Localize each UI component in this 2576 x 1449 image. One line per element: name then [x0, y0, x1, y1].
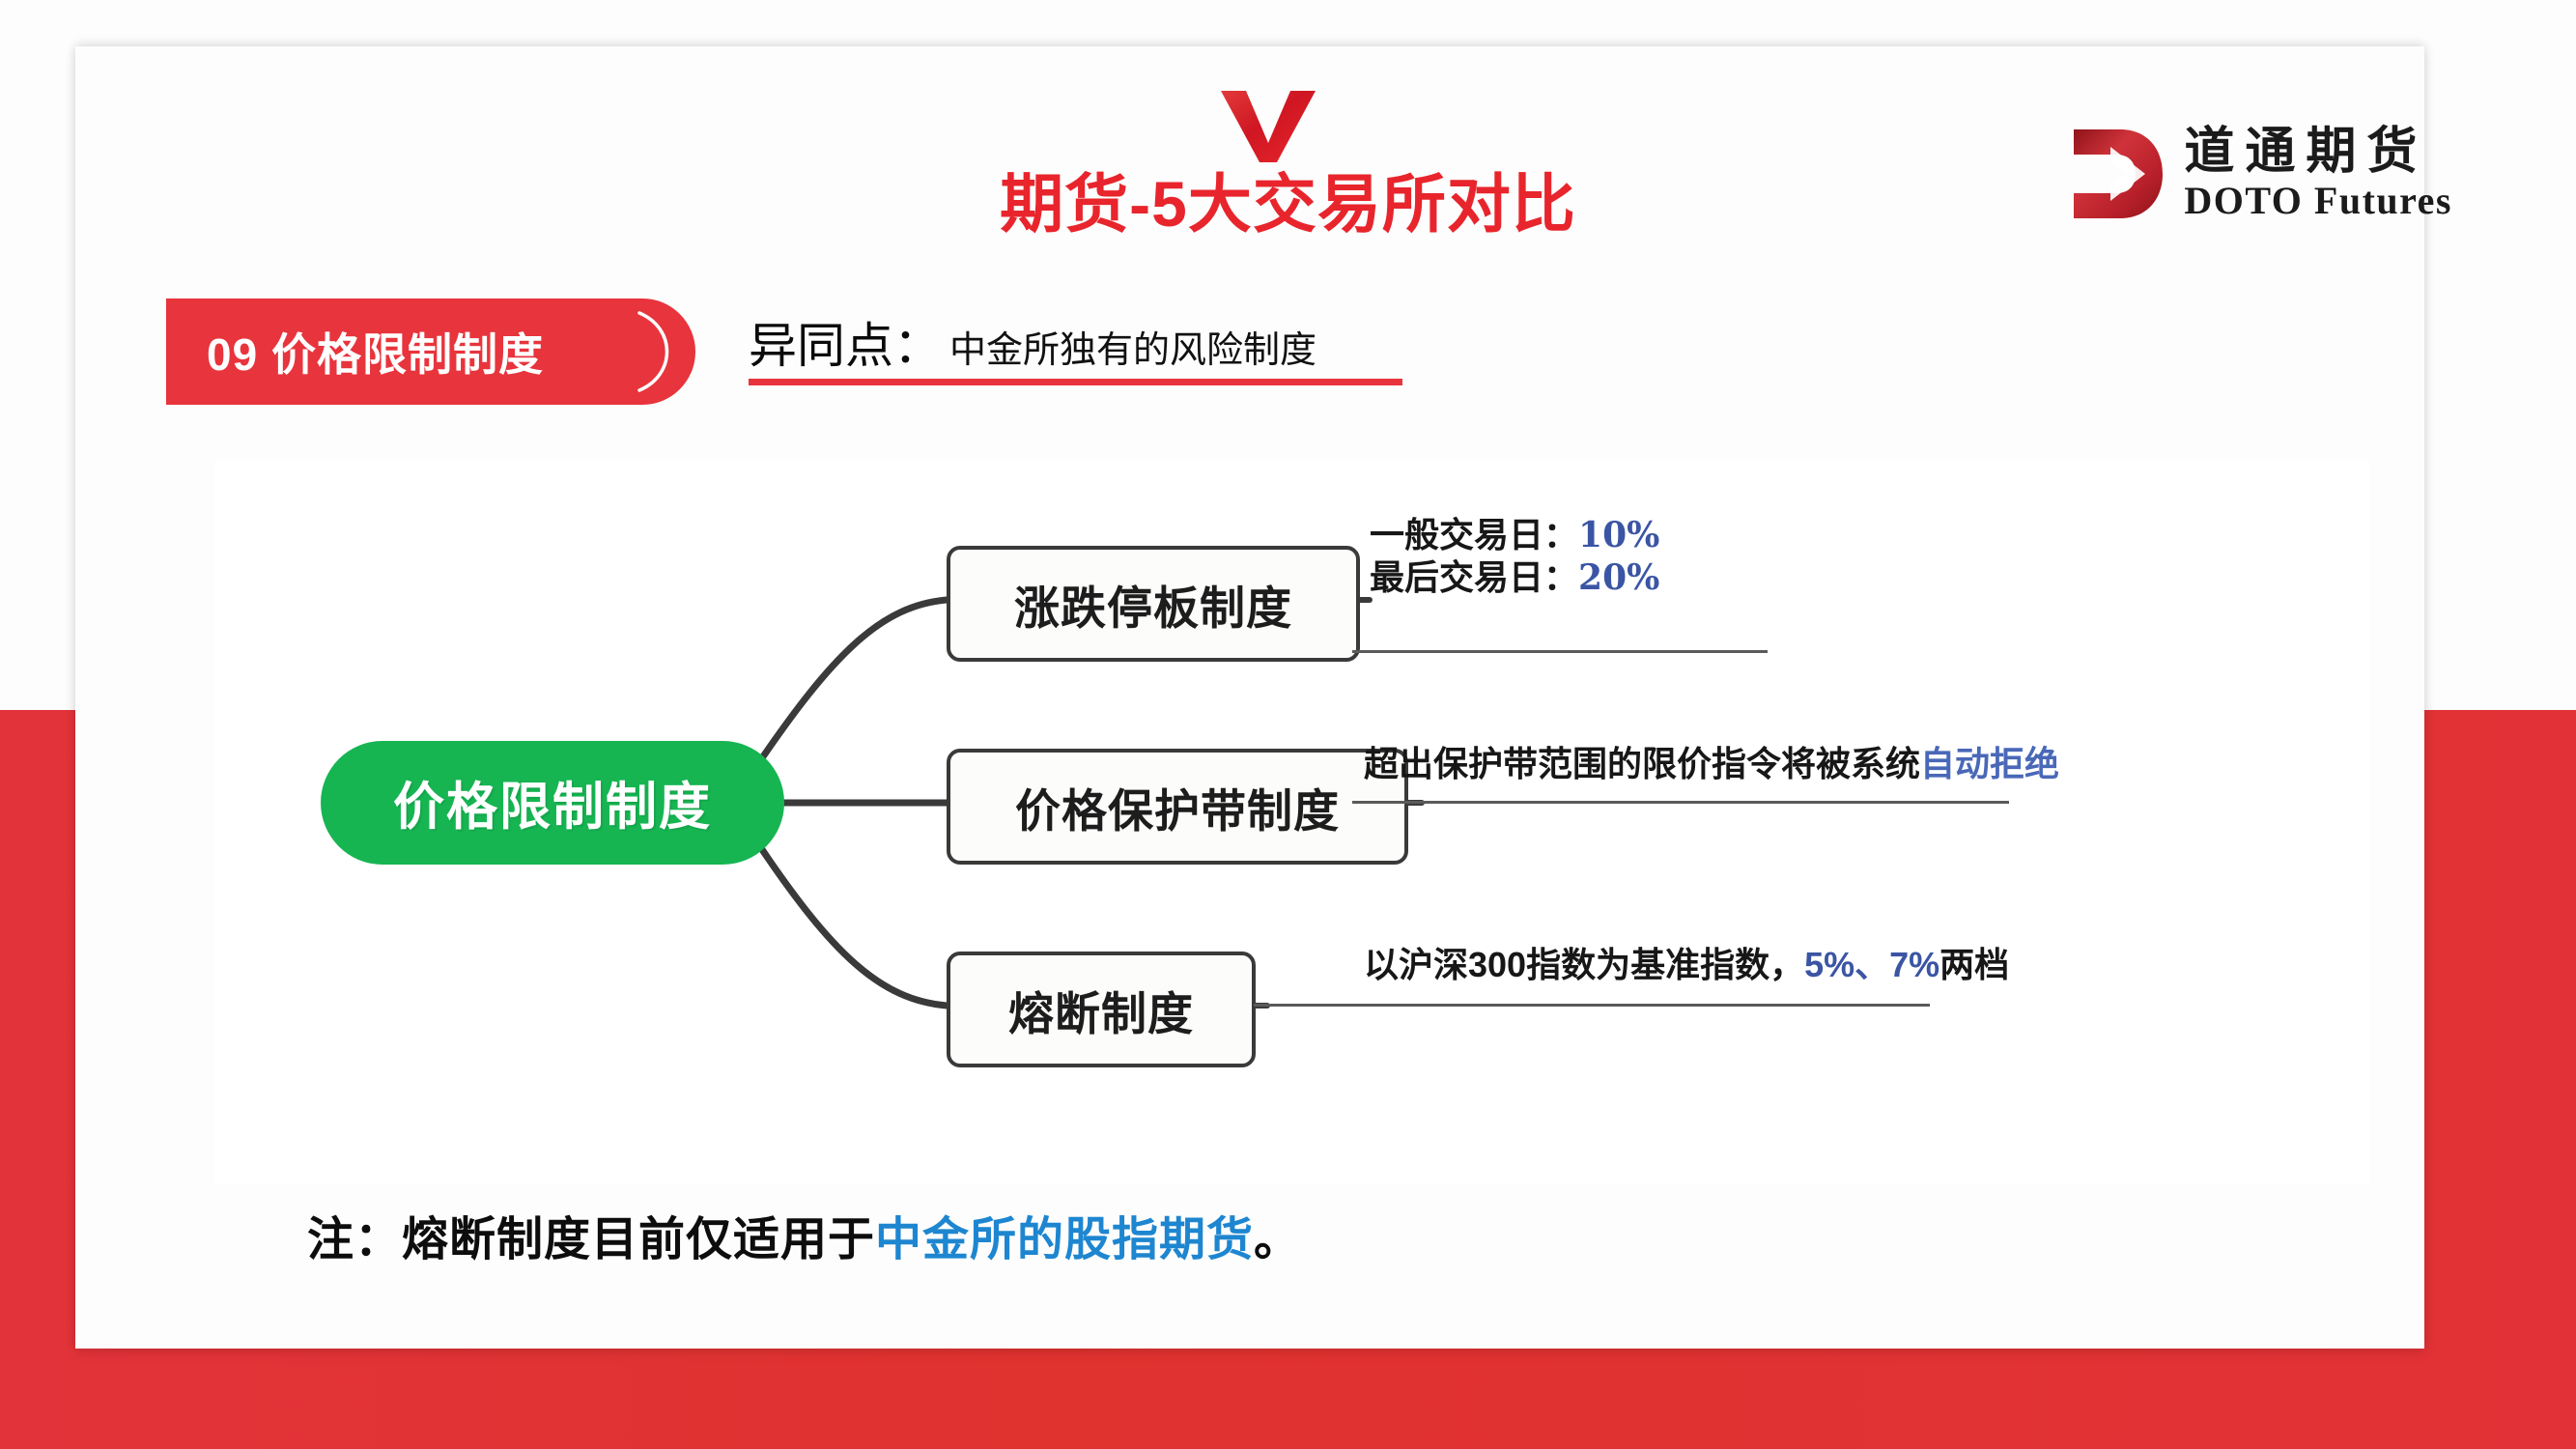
- subtitle-rest: 中金所独有的风险制度: [949, 320, 1316, 373]
- mindmap-core-label: 价格限制制度: [393, 766, 712, 839]
- brand-name-en: DOTO Futures: [2184, 182, 2452, 220]
- chevron-down-icon: [1217, 89, 1319, 164]
- annotation-suffix: 两档: [1939, 945, 2009, 984]
- annotation-rule-2: [1254, 1004, 1930, 1007]
- subtitle-lead: 异同点：: [749, 307, 942, 377]
- annotation-value: 20%: [1578, 557, 1659, 598]
- footer-note-suffix: 。: [1254, 1214, 1301, 1265]
- doto-arrow-logo-icon: [2066, 124, 2166, 224]
- mindmap-branch-label-0: 涨跌停板制度: [1014, 571, 1292, 638]
- annotation-text: 以沪深300指数为基准指数，: [1364, 945, 1804, 984]
- brand-name-cn: 道通期货: [2184, 128, 2452, 178]
- section-subtitle: 异同点： 中金所独有的风险制度: [749, 307, 1316, 377]
- mindmap-branch-label-2: 熔断制度: [1008, 977, 1194, 1043]
- footer-note: 注：熔断制度目前仅适用于中金所的股指期货。: [307, 1201, 1301, 1268]
- footer-note-prefix: 注：熔断制度目前仅适用于: [307, 1214, 875, 1265]
- mindmap-annotation-1: 超出保护带范围的限价指令将被系统自动拒绝: [1364, 743, 2059, 785]
- mindmap-branch-label-1: 价格保护带制度: [1015, 774, 1340, 840]
- annotation-value: 10%: [1578, 515, 1659, 555]
- annotation-value: 5%、7%: [1804, 945, 1939, 984]
- mindmap-annotation-0: 一般交易日：10% 最后交易日：20%: [1370, 515, 1659, 600]
- annotation-rule-0: [1352, 650, 1768, 653]
- mindmap-branch-box-1[interactable]: 价格保护带制度: [947, 749, 1408, 865]
- mindmap-panel: 价格限制制度 涨跌停板制度 一般交易日：10% 最后交易日：20% 价格保护带制…: [214, 461, 2369, 1183]
- annotation-text: 一般交易日：: [1370, 515, 1578, 555]
- footer-note-highlight: 中金所的股指期货: [875, 1214, 1254, 1265]
- annotation-line: 最后交易日：20%: [1370, 557, 1659, 600]
- annotation-line: 以沪深300指数为基准指数，5%、7%两档: [1364, 944, 2009, 986]
- brand-logo: 道通期货 DOTO Futures: [2066, 124, 2452, 224]
- mindmap-branch-box-2[interactable]: 熔断制度: [947, 952, 1256, 1067]
- section-badge: 09 价格限制制度: [166, 298, 695, 405]
- annotation-value: 自动拒绝: [1920, 744, 2059, 783]
- badge-arc-decoration: [634, 309, 688, 394]
- annotation-line: 一般交易日：10%: [1370, 515, 1659, 557]
- slide-canvas: 期货-5大交易所对比 道通期货 DOTO Futures 09 价格限制制度: [0, 0, 2576, 1449]
- annotation-rule-1: [1352, 801, 2009, 804]
- subtitle-underline: [749, 379, 1402, 385]
- section-badge-label: 09 价格限制制度: [166, 320, 544, 384]
- mindmap-annotation-2: 以沪深300指数为基准指数，5%、7%两档: [1364, 944, 2009, 986]
- annotation-text: 超出保护带范围的限价指令将被系统: [1364, 744, 1920, 783]
- brand-text: 道通期货 DOTO Futures: [2184, 128, 2452, 220]
- mindmap-core-node[interactable]: 价格限制制度: [321, 741, 784, 865]
- mindmap-branch-box-0[interactable]: 涨跌停板制度: [947, 546, 1360, 662]
- annotation-text: 最后交易日：: [1370, 557, 1578, 598]
- annotation-line: 超出保护带范围的限价指令将被系统自动拒绝: [1364, 743, 2059, 785]
